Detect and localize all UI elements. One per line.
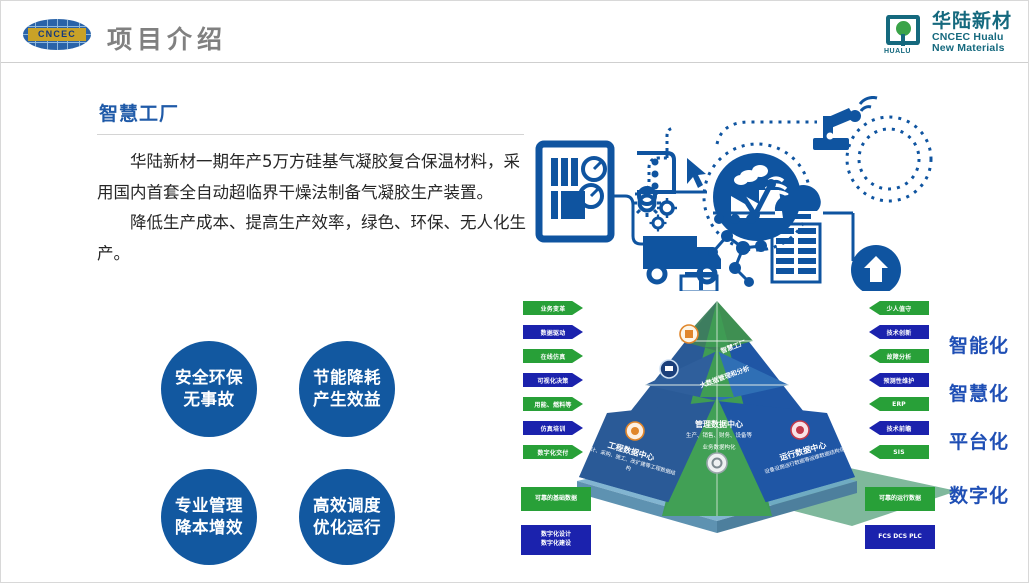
- benefit-circle-4-line1: 高效调度: [313, 495, 381, 517]
- left-box-2-line2: 数字化建设: [541, 540, 571, 549]
- left-box-1[interactable]: 可靠的基础数据: [521, 487, 591, 511]
- right-box-2-line1: FCS DCS PLC: [878, 533, 922, 542]
- level-label-2: 智慧化: [949, 379, 1009, 406]
- cncec-wordmark-text: CNCEC: [38, 30, 76, 39]
- level-label-1: 智能化: [949, 331, 1009, 358]
- left-tag-3[interactable]: 在线仿真: [523, 349, 583, 363]
- cursor-icon: [687, 158, 706, 188]
- benefit-circle-3-line1: 专业管理: [175, 495, 243, 517]
- left-tag-6[interactable]: 仿真培训: [523, 421, 583, 435]
- right-box-2[interactable]: FCS DCS PLC: [865, 525, 935, 549]
- cncec-wordmark: CNCEC: [28, 28, 86, 41]
- left-tag-5[interactable]: 用能、燃料等: [523, 397, 583, 411]
- benefit-circle-2-line2: 产生效益: [313, 389, 381, 411]
- gear-small-icon: [657, 198, 677, 218]
- company-name-en-line2: New Materials: [932, 43, 1012, 54]
- hualu-logo: HUALU 华陆新材 CNCEC Hualu New Materials: [884, 13, 1012, 53]
- badge-management-icon: [707, 453, 727, 473]
- section-title: 智慧工厂: [99, 99, 179, 126]
- benefit-circles: 安全环保 无事故 节能降耗 产生效益 专业管理 降本增效 高效调度 优化运行: [161, 341, 411, 566]
- badge-analysis-icon: [660, 360, 678, 378]
- paragraph-1: 华陆新材一期年产5万方硅基气凝胶复合保温材料，采用国内首套全自动超临界干燥法制备…: [97, 147, 527, 208]
- paragraph-2: 降低生产成本、提高生产效率，绿色、环保、无人化生产。: [97, 208, 527, 269]
- slide-header: CNCEC 项目介绍 HUALU 华陆新材 CNCEC Hualu New Ma…: [1, 1, 1029, 63]
- benefit-circle-3-line2: 降本增效: [175, 517, 243, 539]
- right-tag-5[interactable]: ERP: [869, 397, 929, 411]
- company-name-cn: 华陆新材: [932, 12, 1012, 32]
- slide-root: CNCEC 项目介绍 HUALU 华陆新材 CNCEC Hualu New Ma…: [0, 0, 1029, 583]
- right-box-1[interactable]: 可靠的运行数据: [865, 487, 935, 511]
- badge-operation-icon: [791, 421, 809, 439]
- right-tag-7[interactable]: SIS: [869, 445, 929, 459]
- right-tag-2[interactable]: 技术创新: [869, 325, 929, 339]
- benefit-circle-3[interactable]: 专业管理 降本增效: [161, 469, 257, 565]
- badge-engineering-icon: [626, 422, 644, 440]
- left-box-1-line1: 可靠的基础数据: [535, 495, 577, 504]
- level-label-3: 平台化: [949, 427, 1009, 454]
- gear-tiny-icon: [650, 215, 667, 232]
- benefit-circle-1-line2: 无事故: [184, 389, 235, 411]
- level-label-4: 数字化: [949, 481, 1009, 508]
- right-tag-3[interactable]: 故障分析: [869, 349, 929, 363]
- benefit-circle-2[interactable]: 节能降耗 产生效益: [299, 341, 395, 437]
- page-title: 项目介绍: [107, 20, 227, 56]
- hualu-mark-word: HUALU: [884, 48, 911, 55]
- benefit-circle-2-line1: 节能降耗: [313, 367, 381, 389]
- control-panel-icon: [539, 144, 611, 239]
- left-box-2[interactable]: 数字化设计 数字化建设: [521, 525, 591, 555]
- benefit-circle-4[interactable]: 高效调度 优化运行: [299, 469, 395, 565]
- badge-factory-icon: [680, 325, 698, 343]
- cncec-logo: CNCEC: [23, 19, 91, 50]
- section-divider: [97, 134, 524, 135]
- body-text: 华陆新材一期年产5万方硅基气凝胶复合保温材料，采用国内首套全自动超临界干燥法制备…: [97, 147, 527, 269]
- left-tag-4[interactable]: 可视化决策: [523, 373, 583, 387]
- right-tag-1[interactable]: 少人值守: [869, 301, 929, 315]
- hualu-mark-icon: HUALU: [884, 13, 924, 53]
- header-divider: [1, 62, 1029, 63]
- smart-home-icon: [851, 245, 901, 291]
- right-tag-6[interactable]: 技术前瞻: [869, 421, 929, 435]
- right-tag-4[interactable]: 预测性维护: [869, 373, 929, 387]
- left-tag-2[interactable]: 数据驱动: [523, 325, 583, 339]
- pyramid-diagram: 智慧工厂 大数据管理和分析 管理数据中心 生产、销售、财务、设备等 业务数据构化…: [517, 291, 1027, 581]
- left-tag-1[interactable]: 业务变革: [523, 301, 583, 315]
- server-rack-icon: [772, 224, 820, 282]
- dots-icon: [714, 214, 756, 224]
- left-tag-7[interactable]: 数字化交付: [523, 445, 583, 459]
- module-icon: [637, 153, 674, 192]
- robot-arm-icon: [813, 97, 877, 150]
- benefit-circle-1[interactable]: 安全环保 无事故: [161, 341, 257, 437]
- iot-illustration: [517, 96, 1017, 291]
- left-box-2-line1: 数字化设计: [541, 531, 571, 540]
- right-box-1-line1: 可靠的运行数据: [879, 495, 921, 504]
- benefit-circle-1-line1: 安全环保: [175, 367, 243, 389]
- benefit-circle-4-line2: 优化运行: [313, 517, 381, 539]
